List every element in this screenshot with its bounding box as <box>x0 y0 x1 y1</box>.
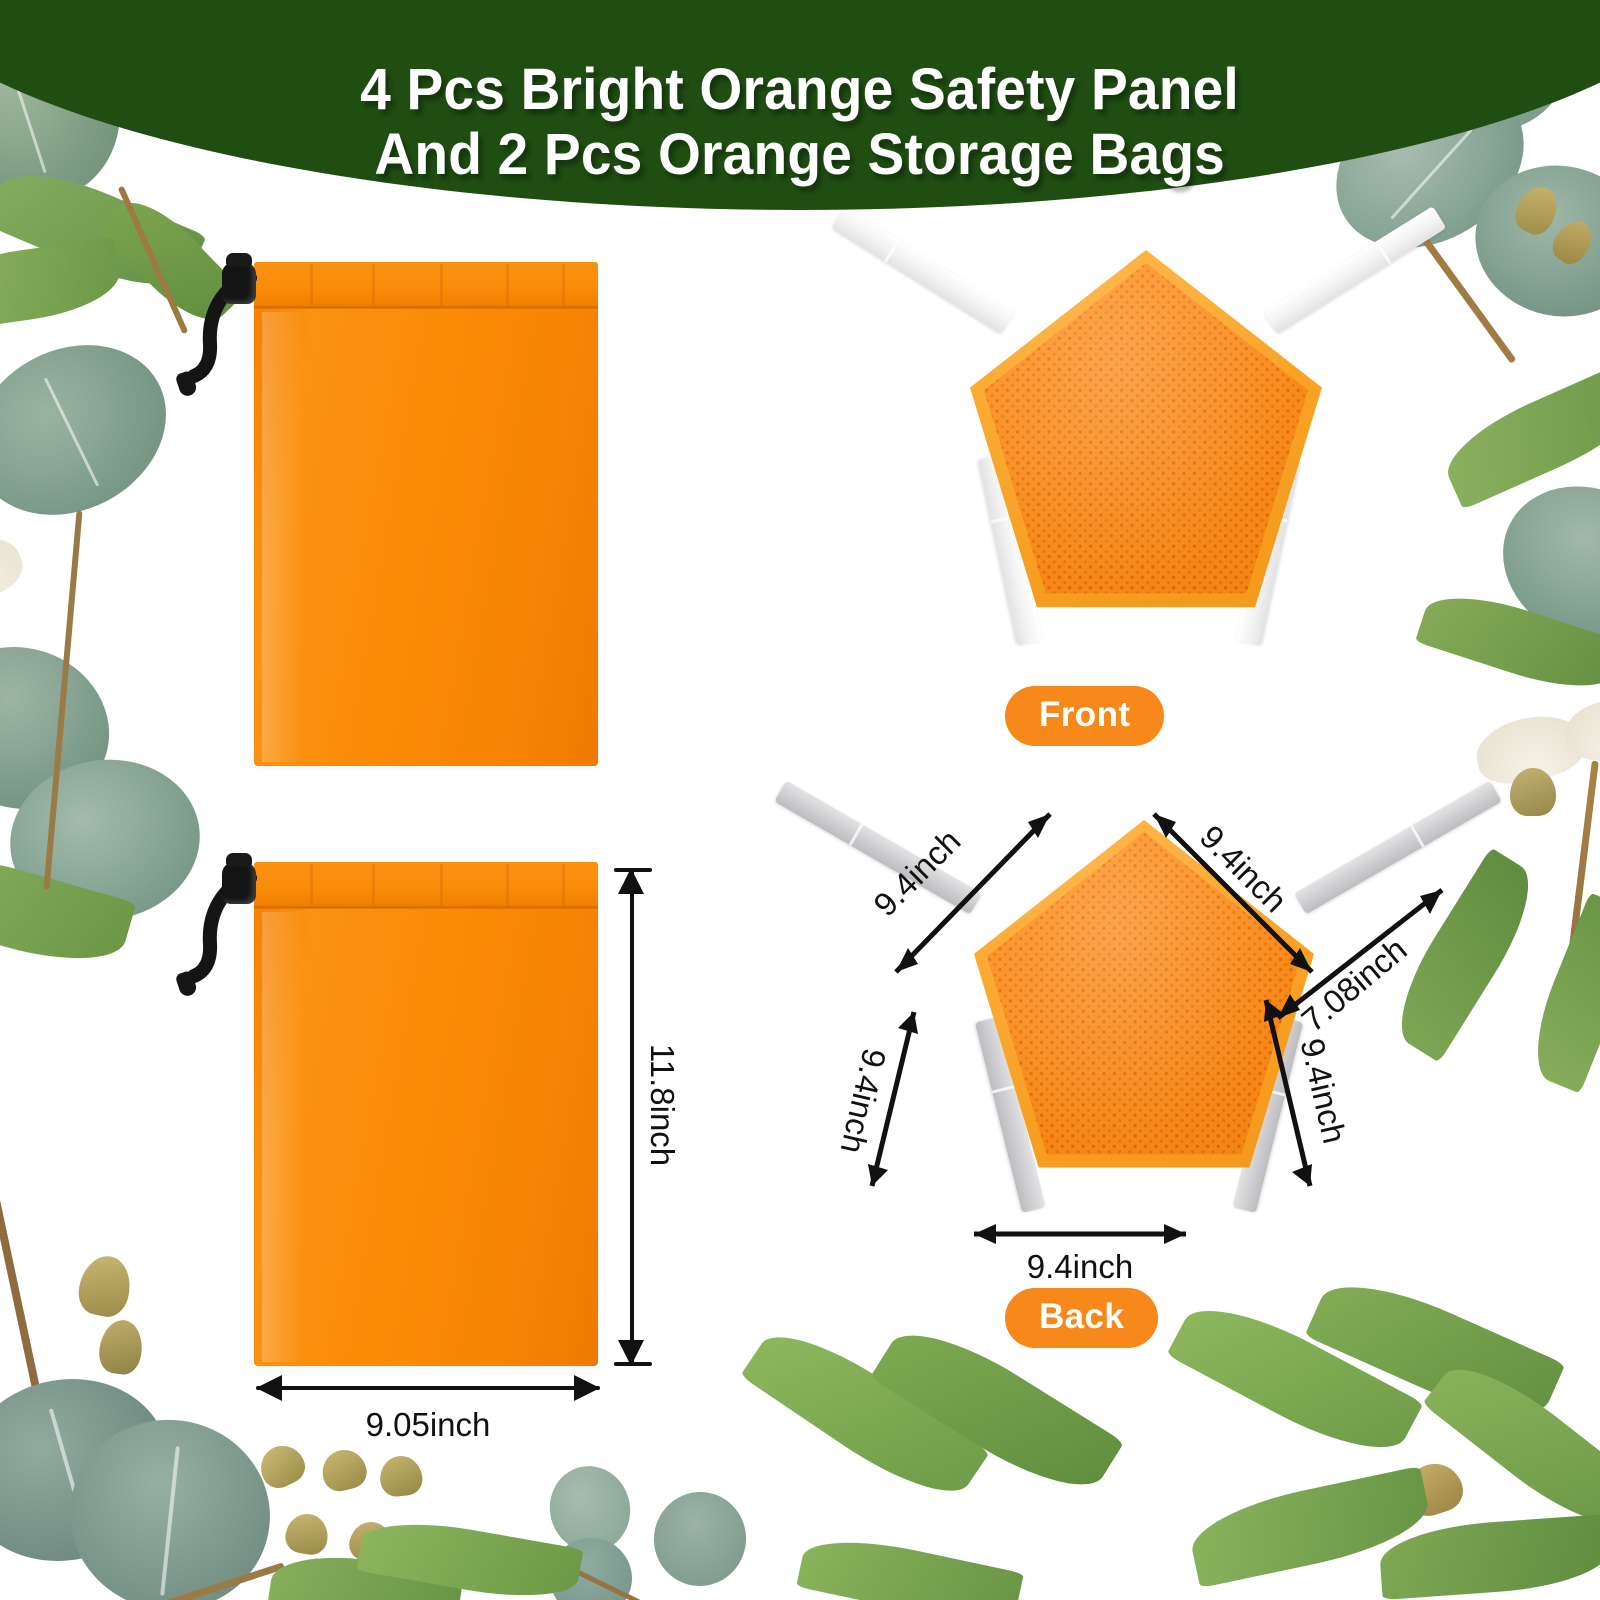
bag-width-dimension: 9.05inch <box>250 1376 606 1466</box>
bag-hem <box>254 862 598 908</box>
strap-seam <box>1375 240 1391 264</box>
page-title-line-1: 4 Pcs Bright Orange Safety Panel <box>361 57 1240 123</box>
eucalyptus-seed-pod <box>346 1518 396 1567</box>
eucalyptus-leaf <box>541 1458 639 1561</box>
eucalyptus-flower <box>0 527 29 614</box>
strap-seam <box>884 239 900 263</box>
view-badge-front: Front <box>1005 686 1164 746</box>
eucalyptus-leaf <box>58 1407 282 1600</box>
panel-edge-bottom-label: 9.4inch <box>960 1248 1200 1286</box>
eucalyptus-leaf <box>1435 360 1600 509</box>
eucalyptus-leaf <box>0 624 130 832</box>
branch-stem <box>554 1559 682 1600</box>
arrow-head-left <box>256 1375 282 1401</box>
bag-gather <box>506 264 509 306</box>
infographic-canvas: 4 Pcs Bright Orange Safety Panel And 2 P… <box>0 0 1600 1600</box>
eucalyptus-leaf <box>1378 1514 1600 1600</box>
eucalyptus-leaf <box>0 237 124 333</box>
foliage-bottom-right <box>1130 1300 1600 1600</box>
eucalyptus-seed-pod <box>1509 180 1564 240</box>
eucalyptus-leaf <box>266 1547 464 1600</box>
strap-seam <box>1410 825 1425 847</box>
bag-gather <box>440 864 443 906</box>
branch-stem <box>1560 761 1599 1020</box>
arrow-head-down <box>618 1340 644 1366</box>
bag-height-dimension: 11.8inch <box>610 862 730 1372</box>
eucalyptus-seed-pod <box>1547 214 1600 269</box>
eucalyptus-leaf <box>1475 457 1600 674</box>
cord-lock-toggle <box>222 862 256 904</box>
bag-gather <box>562 864 565 906</box>
bag-width-label: 9.05inch <box>250 1406 606 1444</box>
eucalyptus-leaf <box>647 1485 754 1594</box>
panel-strap-top-left <box>832 206 1015 334</box>
eucalyptus-leaf <box>0 1357 189 1582</box>
safety-panel-front <box>830 250 1450 750</box>
panel-dimension-strap: 7.08inch <box>1258 870 1518 1050</box>
eucalyptus-flower <box>1564 697 1600 764</box>
eucalyptus-leaf <box>740 1313 990 1516</box>
bag-gather <box>372 264 375 306</box>
dimension-line <box>256 1386 600 1390</box>
branch-stem <box>43 510 82 889</box>
eucalyptus-leaf <box>1422 1347 1600 1545</box>
bag-hem-stitch <box>254 306 598 309</box>
dimension-line <box>630 868 634 1366</box>
bag-hem <box>254 262 598 308</box>
cord-lock-toggle <box>222 262 256 304</box>
bag-gather <box>562 264 565 306</box>
leaf-vein <box>49 1408 91 1544</box>
panel-dimension-bottom: 9.4inch <box>960 1216 1200 1306</box>
storage-bag-top <box>254 262 598 766</box>
leaf-vein <box>160 1446 180 1596</box>
eucalyptus-leaf <box>0 840 136 978</box>
leaf-vein <box>44 377 99 486</box>
eucalyptus-leaf <box>356 1511 583 1600</box>
strap-seam <box>849 824 864 846</box>
arrow-head-up <box>618 868 644 894</box>
eucalyptus-seed-pod <box>74 1251 135 1320</box>
panel-dimension-top-left: 9.4inch <box>878 796 1098 996</box>
bag-height-label: 11.8inch <box>643 1005 681 1205</box>
arrow-head-right <box>1164 1224 1186 1244</box>
eucalyptus-seed-pod <box>1510 768 1556 816</box>
arrow-head-right <box>574 1375 600 1401</box>
strap-seam <box>992 1085 1016 1094</box>
arrow-head-lower <box>1292 1164 1312 1186</box>
eucalyptus-leaf <box>1519 893 1600 1094</box>
page-title-line-2: And 2 Pcs Orange Storage Bags <box>375 122 1226 188</box>
branch-stem <box>102 1562 285 1600</box>
eucalyptus-seed-pod <box>1400 1457 1469 1522</box>
panel-dimension-left: 9.4inch <box>836 996 956 1206</box>
panel-strap-top-right <box>1263 206 1446 334</box>
bag-hem-stitch <box>254 906 598 909</box>
eucalyptus-flower <box>1471 707 1590 790</box>
bag-body <box>254 862 598 1366</box>
branch-stem <box>0 1172 42 1399</box>
bag-body <box>254 262 598 766</box>
bag-gather <box>440 264 443 306</box>
eucalyptus-seed-pod <box>283 1511 331 1558</box>
eucalyptus-leaf <box>1461 150 1600 332</box>
bag-gather <box>372 864 375 906</box>
arrow-head-left <box>974 1224 996 1244</box>
eucalyptus-leaf <box>796 1528 1024 1600</box>
bag-gather <box>310 264 313 306</box>
bag-gather <box>310 864 313 906</box>
bag-gather <box>506 864 509 906</box>
eucalyptus-leaf <box>546 1534 636 1600</box>
header-banner: 4 Pcs Bright Orange Safety Panel And 2 P… <box>0 0 1600 210</box>
eucalyptus-seed-pod <box>96 1317 145 1376</box>
storage-bag-bottom <box>254 862 598 1366</box>
eucalyptus-leaf <box>1185 1466 1435 1588</box>
